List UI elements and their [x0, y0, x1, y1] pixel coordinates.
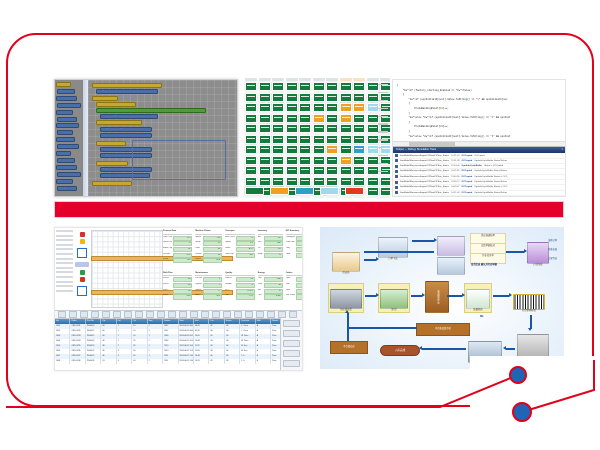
slide-root: ControlLogicMathTextListsColorsVariables… — [0, 0, 600, 450]
decorative-connector-line — [0, 0, 600, 450]
decorative-dot-2 — [512, 402, 532, 422]
decorative-dot-1 — [509, 366, 527, 384]
